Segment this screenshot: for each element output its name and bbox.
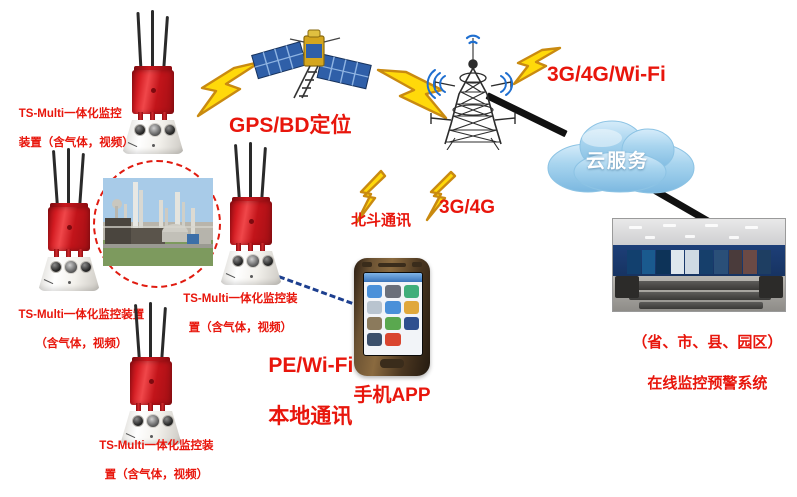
app-icon[interactable] (367, 317, 382, 330)
local-comm-label-line2: 本地通讯 (268, 405, 352, 428)
phone-screen[interactable] (363, 272, 423, 356)
cell-tower-icon (425, 20, 521, 150)
app-icon[interactable] (404, 301, 419, 314)
beidou-label: 北斗通讯 (351, 212, 411, 231)
device-top-left-label-line1: TS-Multi一体化监控 (19, 108, 122, 120)
app-icon (404, 333, 419, 346)
rugged-handheld-icon[interactable] (354, 258, 430, 376)
backhaul-label: 3G/4G/Wi-Fi (547, 62, 666, 88)
cloud-label: 云服务 (586, 146, 649, 173)
phone-status-bar (364, 273, 422, 282)
app-icon[interactable] (404, 317, 419, 330)
app-icon[interactable] (385, 317, 400, 330)
diagram-canvas: 云服务 (0, 0, 797, 464)
app-icon[interactable] (367, 301, 382, 314)
control-room-photo (612, 218, 786, 312)
app-icon[interactable] (404, 285, 419, 298)
device-middle-center[interactable] (210, 142, 292, 284)
device-bottom-label-line1: TS-Multi一体化监控装 (99, 440, 213, 452)
cellular-label: 3G/4G (439, 196, 495, 220)
local-comm-label-line1: PE/Wi-Fi (268, 354, 353, 377)
video-wall (627, 250, 771, 274)
app-icon[interactable] (385, 301, 400, 314)
device-bottom[interactable] (110, 302, 192, 442)
local-comm-label: PE/Wi-Fi 本地通讯 (245, 328, 353, 454)
phone-app-grid[interactable] (367, 285, 419, 346)
app-icon[interactable] (385, 285, 400, 298)
device-middle-left[interactable] (28, 148, 110, 288)
app-icon[interactable] (385, 333, 400, 346)
device-bottom-label-line2: 置（含气体，视频） (105, 469, 209, 481)
device-bottom-label: TS-Multi一体化监控装 置（含气体，视频） (76, 425, 224, 497)
cloud-icon: 云服务 (540, 110, 702, 198)
control-room-label: （省、市、县、园区） 在线监控预警系统 (604, 313, 794, 414)
control-room-label-line1: （省、市、县、园区） (632, 334, 782, 351)
app-icon[interactable] (367, 285, 382, 298)
device-middle-center-label-line1: TS-Multi一体化监控装 (183, 293, 297, 305)
control-room-label-line2: 在线监控预警系统 (647, 375, 767, 392)
satellite-icon (248, 12, 374, 108)
app-icon[interactable] (367, 333, 382, 346)
gps-bd-label: GPS/BD定位 (229, 113, 352, 139)
refinery-photo (103, 178, 213, 266)
